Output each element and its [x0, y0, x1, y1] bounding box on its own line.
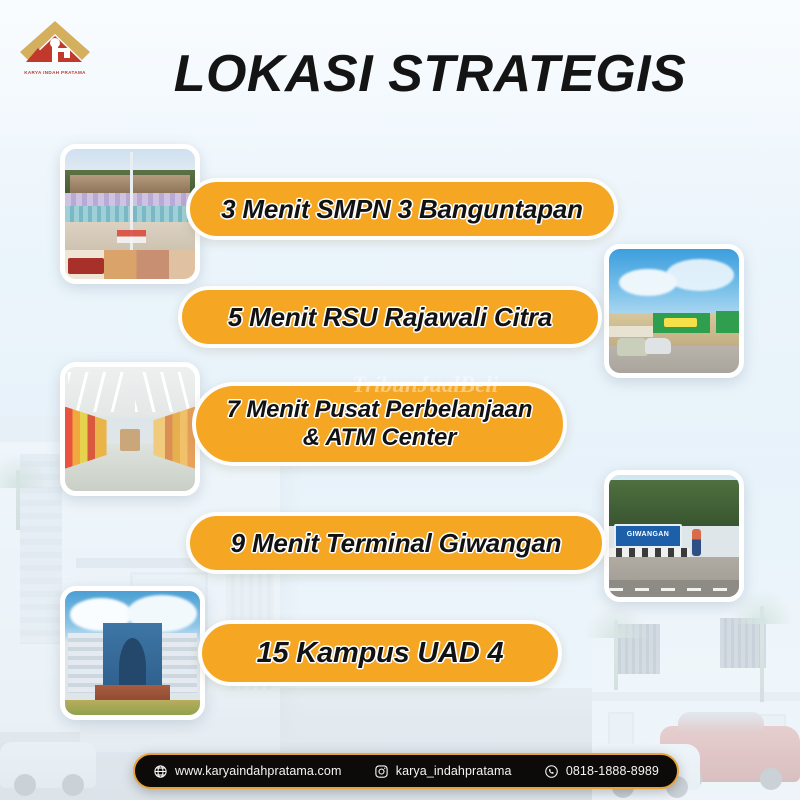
- poster-canvas: KARYA INDAH PRATAMA LOKASI STRATEGIS: [0, 0, 800, 800]
- feature-pill-label-line1: 7 Menit Pusat Perbelanjaan: [227, 396, 533, 423]
- feature-pill-mall[interactable]: 7 Menit Pusat Perbelanjaan & ATM Center: [192, 382, 567, 466]
- feature-pill-label-line2: & ATM Center: [303, 424, 457, 451]
- whatsapp-icon: [544, 764, 559, 779]
- footer-website[interactable]: www.karyaindahpratama.com: [153, 764, 341, 779]
- giwangan-terminal-sign-photo: GIWANGAN: [604, 470, 744, 602]
- terminal-sign: GIWANGAN: [614, 524, 682, 548]
- page-title: LOKASI STRATEGIS: [0, 44, 800, 104]
- feature-pill-rsu[interactable]: 5 Menit RSU Rajawali Citra: [178, 286, 602, 348]
- terminal-sign-label: GIWANGAN: [616, 531, 680, 538]
- feature-pill-kampus[interactable]: 15 Kampus UAD 4: [198, 620, 562, 686]
- footer-instagram[interactable]: karya_indahpratama: [374, 764, 512, 779]
- feature-pill-label: 15 Kampus UAD 4: [247, 636, 514, 670]
- footer-website-text: www.karyaindahpratama.com: [175, 764, 341, 778]
- hospital-building-photo: [604, 244, 744, 378]
- supermarket-aisle-photo: [60, 362, 200, 496]
- footer-whatsapp[interactable]: 0818-1888-8989: [544, 764, 659, 779]
- globe-icon: [153, 764, 168, 779]
- feature-pill-label: 9 Menit Terminal Giwangan: [221, 528, 572, 559]
- uad-campus-building-photo: [60, 586, 205, 720]
- palm-tree-icon: [16, 470, 20, 530]
- feature-pill-terminal[interactable]: 9 Menit Terminal Giwangan: [186, 512, 606, 574]
- feature-pill-label: 7 Menit Pusat Perbelanjaan & ATM Center: [217, 396, 543, 453]
- feature-pill-label: 3 Menit SMPN 3 Banguntapan: [211, 194, 593, 225]
- palm-tree-icon: [760, 606, 764, 702]
- contact-footer-bar: www.karyaindahpratama.com karya_indahpra…: [133, 753, 679, 789]
- school-flag-ceremony-photo: [60, 144, 200, 284]
- background-car-grey: [0, 742, 96, 788]
- feature-pill-smpn3[interactable]: 3 Menit SMPN 3 Banguntapan: [186, 178, 618, 240]
- footer-whatsapp-text: 0818-1888-8989: [566, 764, 659, 778]
- footer-instagram-text: karya_indahpratama: [396, 764, 512, 778]
- palm-tree-icon: [614, 620, 618, 690]
- feature-pill-label: 5 Menit RSU Rajawali Citra: [218, 302, 562, 333]
- instagram-icon: [374, 764, 389, 779]
